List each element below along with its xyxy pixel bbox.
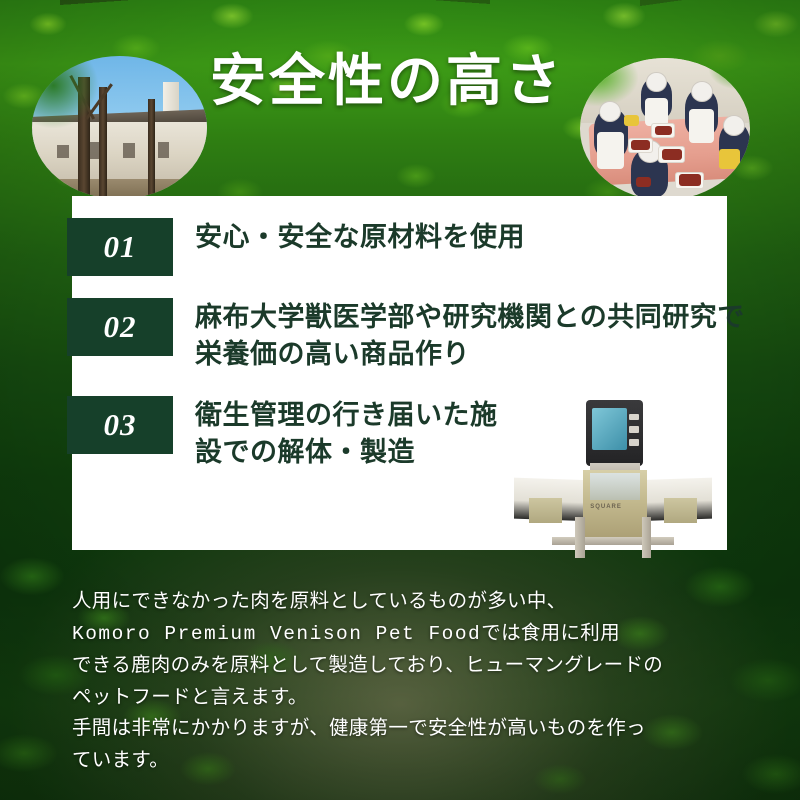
promo-banner: 安全性の高さ SQUARE 01 安心・安全な原材料を使用 0: [0, 0, 800, 800]
body-copy-line: 人用にできなかった肉を原料としているものが多い中、: [72, 586, 752, 618]
worker-hairnet: [723, 115, 745, 136]
feature-item-01: 01 安心・安全な原材料を使用: [67, 218, 747, 276]
feature-list: 01 安心・安全な原材料を使用 02 麻布大学獣医学部や研究機関との共同研究で栄…: [67, 218, 747, 493]
worker-hairnet: [691, 81, 713, 102]
body-copy-line: できる鹿肉のみを原料として製造しており、ヒューマングレードの: [72, 650, 752, 682]
page-title: 安全性の高さ: [210, 52, 600, 112]
body-copy-line: Komoro Premium Venison Pet Foodでは食用に利用: [72, 618, 752, 651]
tree-trunk-shape: [99, 87, 108, 199]
tree-trunk-shape: [148, 99, 155, 199]
machine-base: [552, 537, 674, 545]
facility-photo-art: [32, 56, 207, 199]
meat-pieces: [631, 140, 650, 150]
feature-label: 麻布大学獣医学部や研究機関との共同研究で栄養価の高い商品作り: [173, 298, 747, 374]
worker-apron: [597, 132, 624, 169]
brand-name: Komoro Premium Venison Pet Food: [72, 623, 481, 645]
feature-label: 衛生管理の行き届いた施設での解体・製造: [173, 396, 503, 472]
feature-number-badge: 01: [67, 218, 173, 276]
meat-pieces: [655, 126, 672, 135]
facility-photo: [32, 56, 207, 199]
machine-leg: [642, 517, 652, 558]
worker-apron: [689, 109, 715, 143]
meat-pieces: [636, 177, 651, 187]
machine-brand-label: SQUARE: [590, 504, 643, 510]
greenery-patch: [709, 58, 750, 89]
body-copy-line-tail: では食用に利用: [481, 622, 620, 644]
worker-hairnet: [646, 72, 666, 92]
feature-label: 安心・安全な原材料を使用: [173, 218, 747, 256]
feature-number-badge: 03: [67, 396, 173, 454]
body-copy-line: ています。: [72, 745, 752, 777]
workers-photo-art: [580, 58, 750, 200]
body-copy-line: 手間は非常にかかりますが、健康第一で安全性が高いものを作っ: [72, 713, 752, 745]
feature-item-02: 02 麻布大学獣医学部や研究機関との共同研究で栄養価の高い商品作り: [67, 298, 747, 374]
yellow-crate: [719, 149, 739, 169]
window-shape: [57, 145, 69, 158]
worker-hairnet: [599, 101, 621, 122]
meat-pieces: [662, 149, 682, 160]
body-copy-line: ペットフードと言えます。: [72, 682, 752, 714]
window-shape: [158, 142, 169, 158]
yellow-crate: [624, 115, 639, 126]
meat-pieces: [679, 174, 701, 185]
foreground-leaves: [32, 56, 99, 129]
workers-photo: [580, 58, 750, 200]
body-copy: 人用にできなかった肉を原料としているものが多い中、 Komoro Premium…: [72, 586, 752, 776]
machine-foot: [529, 498, 561, 523]
window-shape: [123, 143, 135, 157]
machine-leg: [575, 517, 585, 558]
machine-foot: [664, 498, 696, 523]
feature-number-badge: 02: [67, 298, 173, 356]
feature-item-03: 03 衛生管理の行き届いた施設での解体・製造: [67, 396, 747, 472]
worker-apron: [645, 98, 669, 126]
